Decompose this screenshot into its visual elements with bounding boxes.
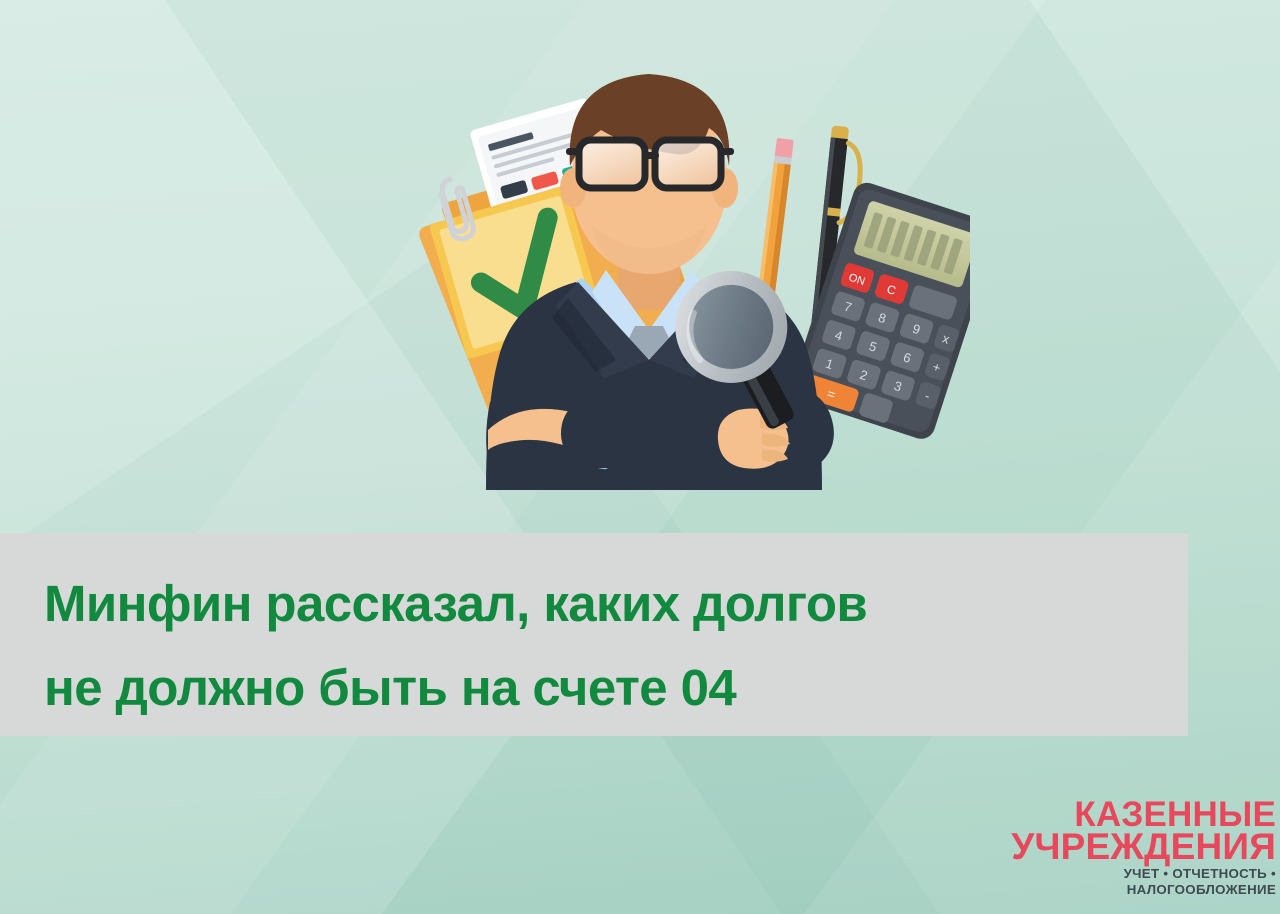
accountant-illustration: ON C 7 8 9 x 4 5 6 + 1 2 3 - (330, 30, 970, 530)
site-logo[interactable]: КАЗЕННЫЕ УЧРЕЖДЕНИЯ УЧЕТ • ОТЧЕТНОСТЬ • … (988, 799, 1276, 898)
logo-line-2: УЧРЕЖДЕНИЯ (988, 831, 1276, 863)
logo-tagline: УЧЕТ • ОТЧЕТНОСТЬ • НАЛОГООБЛОЖЕНИЕ (988, 866, 1276, 898)
cover-image: ON C 7 8 9 x 4 5 6 + 1 2 3 - (0, 0, 1280, 914)
page-title: Минфин рассказал, каких долгов не должно… (44, 562, 1164, 730)
